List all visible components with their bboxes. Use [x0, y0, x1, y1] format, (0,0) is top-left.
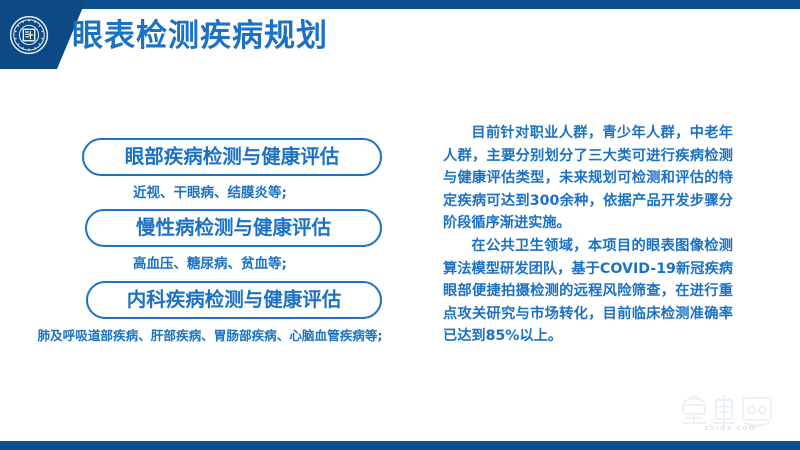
- description-block: 目前针对职业人群，青少年人群，中老年人群，主要分别划分了三大类可进行疾病检测与健…: [443, 122, 733, 348]
- header-top-bar: [0, 0, 800, 9]
- description-paragraph-1: 目前针对职业人群，青少年人群，中老年人群，主要分别划分了三大类可进行疾病检测与健…: [443, 122, 733, 235]
- slide-header: 眼表检测疾病规划: [0, 0, 800, 72]
- watermark-url: zhidx.com: [676, 424, 786, 432]
- university-seal-icon: [9, 15, 49, 55]
- category-pill-eye-disease[interactable]: 眼部疾病检测与健康评估: [82, 138, 382, 176]
- disease-category-list: 眼部疾病检测与健康评估 近视、干眼病、结膜炎等; 慢性病检测与健康评估 高血压、…: [0, 126, 420, 366]
- category-examples-chronic-disease: 高血压、糖尿病、贫血等;: [0, 255, 420, 273]
- category-examples-eye-disease: 近视、干眼病、结膜炎等;: [0, 184, 420, 202]
- slide-root: 眼表检测疾病规划 眼部疾病检测与健康评估 近视、干眼病、结膜炎等; 慢性病检测与…: [0, 0, 800, 450]
- page-title: 眼表检测疾病规划: [72, 14, 328, 58]
- description-paragraph-2: 在公共卫生领域，本项目的眼表图像检测算法模型研发团队，基于COVID-19新冠疾…: [443, 235, 733, 348]
- category-examples-internal-medicine: 肺及呼吸道部疾病、肝部疾病、胃肠部疾病、心脑血管疾病等;: [0, 327, 420, 345]
- category-pill-internal-medicine[interactable]: 内科疾病检测与健康评估: [86, 281, 382, 319]
- category-pill-chronic-disease[interactable]: 慢性病检测与健康评估: [85, 209, 382, 247]
- footer-bar: [0, 441, 800, 450]
